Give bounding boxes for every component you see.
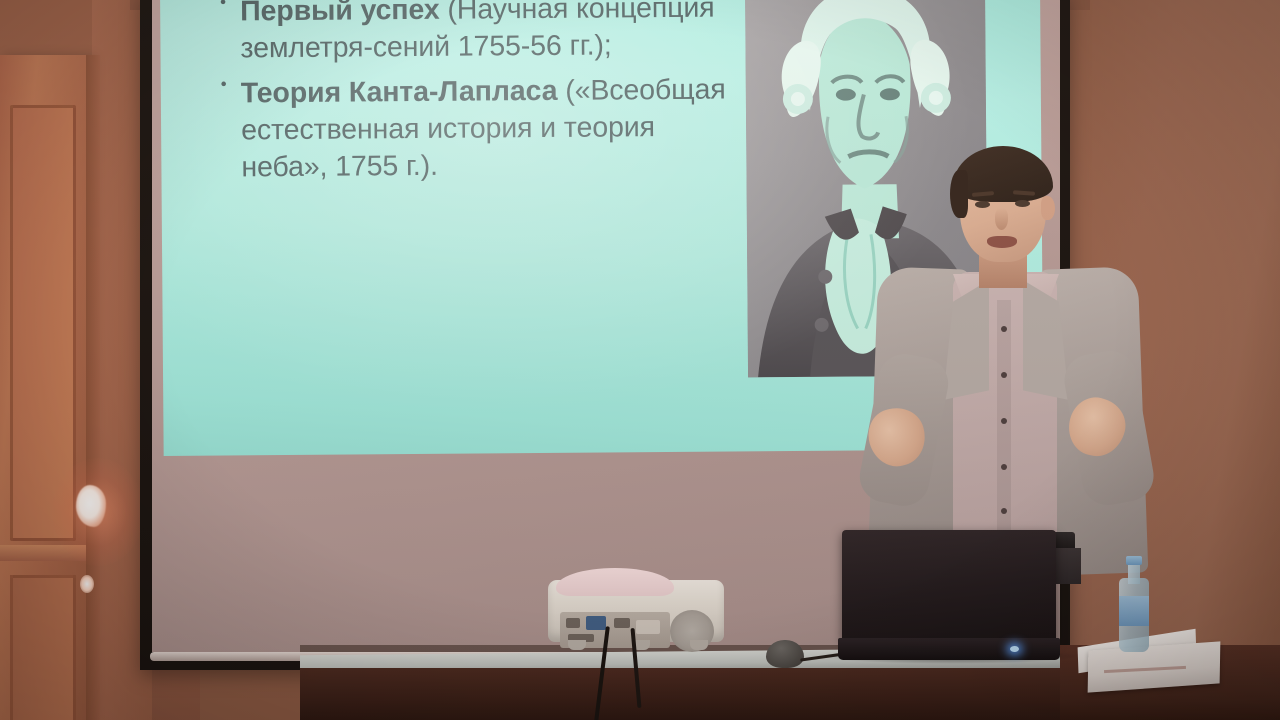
projector-port [566,618,580,628]
slide-bullet-2-text: Теория Канта-Лапласа («Всеобщая естестве… [241,71,732,186]
shirt-button [1001,326,1007,332]
slide-bullet-1-text: Первый успех (Научная концепция землетря… [240,0,731,67]
door-lower-panel [10,575,76,720]
projector-label [636,620,660,634]
lamp-reflection-icon [76,485,106,527]
laptop-lid [842,530,1056,642]
water-bottle [1119,556,1149,652]
nose [995,208,1008,230]
eye-left [975,201,990,208]
lamp-reflection-small-icon [80,575,94,593]
door-edge [86,55,100,720]
computer-mouse[interactable] [766,640,804,668]
bottle-cap [1126,556,1142,565]
slide-bullet-1: Первый успех (Научная концепция землетря… [220,0,731,67]
mouth [987,236,1017,248]
projector-port [614,618,630,628]
projector-lens-cover [556,568,674,596]
presenter [845,140,1175,580]
bottle-label [1119,596,1149,626]
laptop-power-led-icon [1010,646,1019,652]
slide-bullet-2: Теория Канта-Лапласа («Всеобщая естестве… [221,71,732,186]
wooden-door [0,55,92,720]
ear [1041,196,1055,220]
lecture-photo-scene: Первый успех (Научная концепция землетря… [0,0,1280,720]
shirt-button [1001,418,1007,424]
projector [548,566,724,654]
slide-bullet-1-lead: Первый успех [240,0,440,27]
projector-foot [690,640,708,650]
shirt-placket [997,300,1011,568]
shirt-button [1001,464,1007,470]
bottle-neck [1128,562,1140,584]
slide-bullet-list: Первый успех (Научная концепция землетря… [220,0,732,194]
slide-bullet-2-lead: Теория Канта-Лапласа [241,75,558,109]
laptop[interactable] [838,530,1060,670]
laptop-base [838,638,1060,660]
shirt-button [1001,508,1007,514]
hair-sideburn [950,170,968,218]
shirt-button [1001,372,1007,378]
eye-right [1015,200,1030,207]
projector-vga-port [586,616,606,630]
projector-foot [568,640,586,650]
hair [953,146,1053,202]
